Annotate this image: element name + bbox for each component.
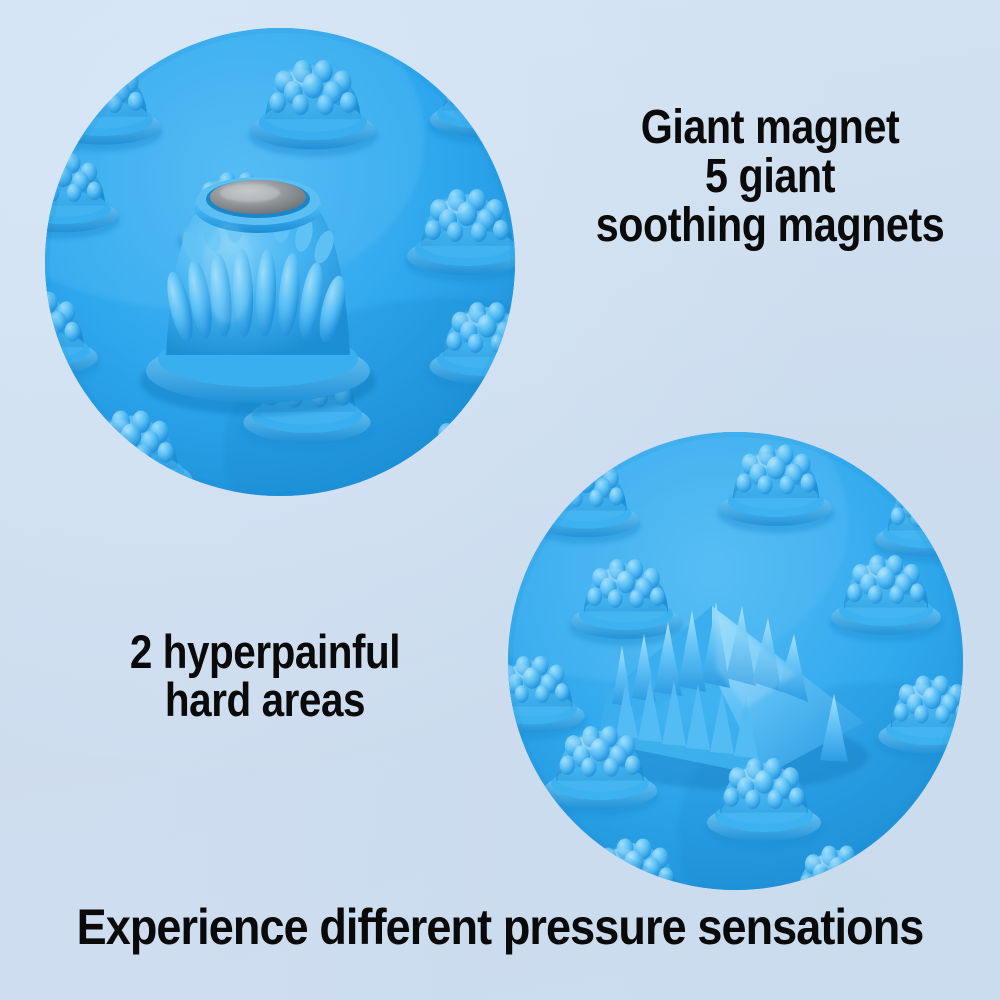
bottom-caption: Experience different pressure sensations (50, 902, 950, 953)
callout-magnets-line1: Giant magnet (572, 104, 968, 153)
bottom-caption-text: Experience different pressure sensations (50, 902, 950, 953)
callout-magnets: Giant magnet 5 giant soothing magnets (572, 104, 968, 251)
hard-area-closeup-photo (508, 432, 963, 890)
callout-hard-areas-line1: 2 hyperpainful (63, 628, 467, 676)
callout-hard-areas: 2 hyperpainful hard areas (63, 628, 467, 724)
callout-hard-areas-line2: hard areas (63, 676, 467, 724)
magnet-closeup-photo (45, 28, 515, 496)
product-feature-poster: Giant magnet 5 giant soothing magnets 2 … (0, 0, 1000, 1000)
callout-magnets-line2: 5 giant (572, 153, 968, 202)
callout-magnets-line3: soothing magnets (572, 202, 968, 251)
